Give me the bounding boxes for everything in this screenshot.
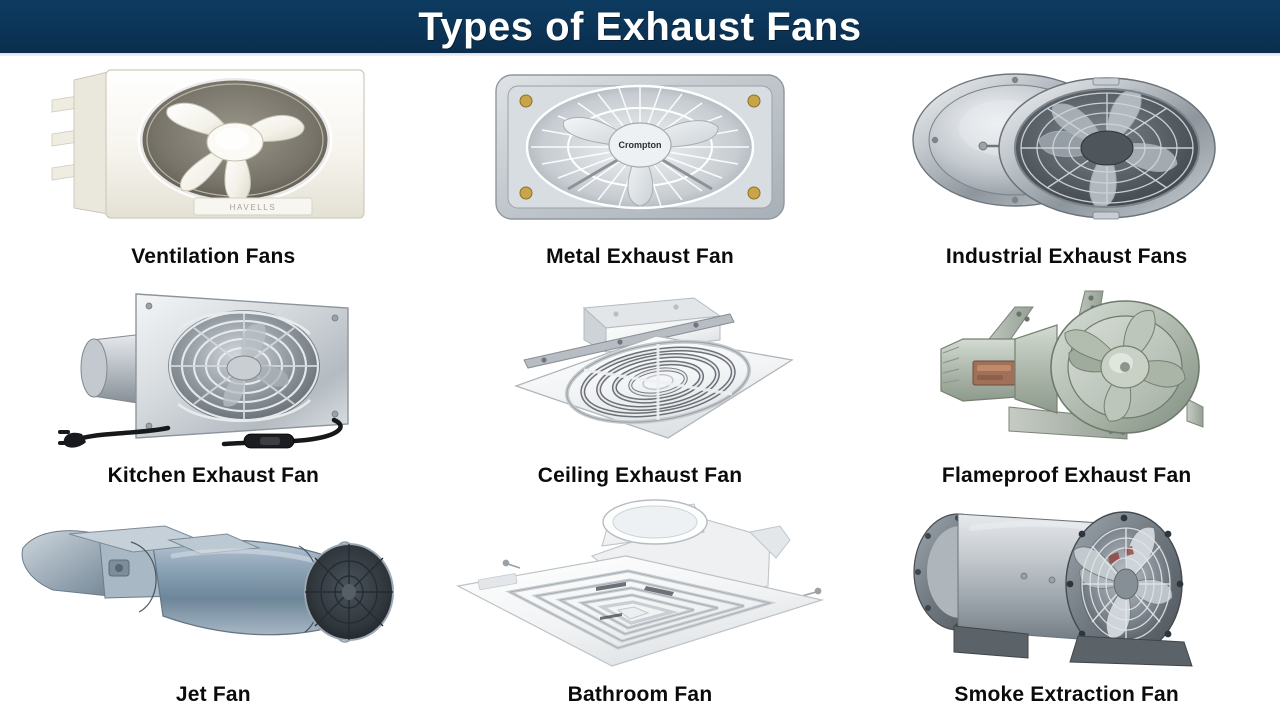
metal-exhaust-fan-illustration: Crompton xyxy=(490,67,790,227)
grid-cell-metal-exhaust-fan: Crompton Metal Exhaust Fan xyxy=(427,56,854,277)
brand-label: HAVELLS xyxy=(230,203,277,212)
grid-cell-bathroom-fan: Bathroom Fan xyxy=(427,498,854,720)
caption-ceiling-exhaust-fan: Ceiling Exhaust Fan xyxy=(538,454,743,498)
grid-cell-kitchen-exhaust-fan: Kitchen Exhaust Fan xyxy=(0,277,427,498)
caption-flameproof-exhaust-fan: Flameproof Exhaust Fan xyxy=(942,454,1191,498)
caption-kitchen-exhaust-fan: Kitchen Exhaust Fan xyxy=(108,454,320,498)
caption-industrial-exhaust-fans: Industrial Exhaust Fans xyxy=(946,237,1188,277)
grid-cell-industrial-exhaust-fans: Industrial Exhaust Fans xyxy=(853,56,1280,277)
grid-cell-ceiling-exhaust-fan: Ceiling Exhaust Fan xyxy=(427,277,854,498)
power-plug xyxy=(58,430,86,448)
caption-ventilation-fans: Ventilation Fans xyxy=(131,237,295,277)
industrial-exhaust-fan-illustration xyxy=(907,62,1227,232)
smoke-extraction-fan-illustration xyxy=(892,502,1242,667)
infographic-page: Types of Exhaust Fans xyxy=(0,0,1280,720)
bathroom-fan-illustration xyxy=(450,498,830,670)
rear-duct xyxy=(81,334,144,404)
caption-metal-exhaust-fan: Metal Exhaust Fan xyxy=(546,237,734,277)
grid-cell-flameproof-exhaust-fan: Flameproof Exhaust Fan xyxy=(853,277,1280,498)
grid-cell-jet-fan: Jet Fan xyxy=(0,498,427,720)
flameproof-exhaust-fan-illustration xyxy=(897,281,1237,451)
grid-cell-smoke-extraction-fan: Smoke Extraction Fan xyxy=(853,498,1280,720)
industrial-exhaust-fan-art xyxy=(853,56,1280,237)
jet-fan-illustration xyxy=(13,504,413,664)
jet-fan-art xyxy=(0,498,427,670)
caption-bathroom-fan: Bathroom Fan xyxy=(568,670,713,720)
ceiling-exhaust-fan-art xyxy=(427,277,854,454)
front-fan-unit xyxy=(999,78,1215,219)
fan-shroud xyxy=(1051,301,1199,433)
front-base-foot xyxy=(1070,636,1192,666)
copper-winding xyxy=(973,361,1015,385)
brand-plate: HAVELLS xyxy=(194,198,312,215)
smoke-extraction-fan-art xyxy=(853,498,1280,670)
motor-body xyxy=(941,339,1017,401)
junction-box xyxy=(109,560,129,576)
ventilation-fan-art: HAVELLS xyxy=(0,56,427,237)
kitchen-exhaust-fan-illustration xyxy=(48,278,378,453)
bathroom-fan-art xyxy=(427,498,854,670)
kitchen-exhaust-fan-art xyxy=(0,277,427,454)
ventilation-fan-illustration: HAVELLS xyxy=(48,62,378,232)
metal-exhaust-fan-art: Crompton xyxy=(427,56,854,237)
ceiling-exhaust-fan-illustration xyxy=(480,286,800,446)
header-banner: Types of Exhaust Fans xyxy=(0,0,1280,53)
page-title: Types of Exhaust Fans xyxy=(418,7,861,47)
fan-types-grid: HAVELLS Ventilation Fans xyxy=(0,56,1280,720)
brand-label: Crompton xyxy=(618,140,661,150)
caption-smoke-extraction-fan: Smoke Extraction Fan xyxy=(954,670,1179,720)
grid-cell-ventilation-fans: HAVELLS Ventilation Fans xyxy=(0,56,427,277)
caption-jet-fan: Jet Fan xyxy=(176,670,251,720)
flameproof-exhaust-fan-art xyxy=(853,277,1280,454)
